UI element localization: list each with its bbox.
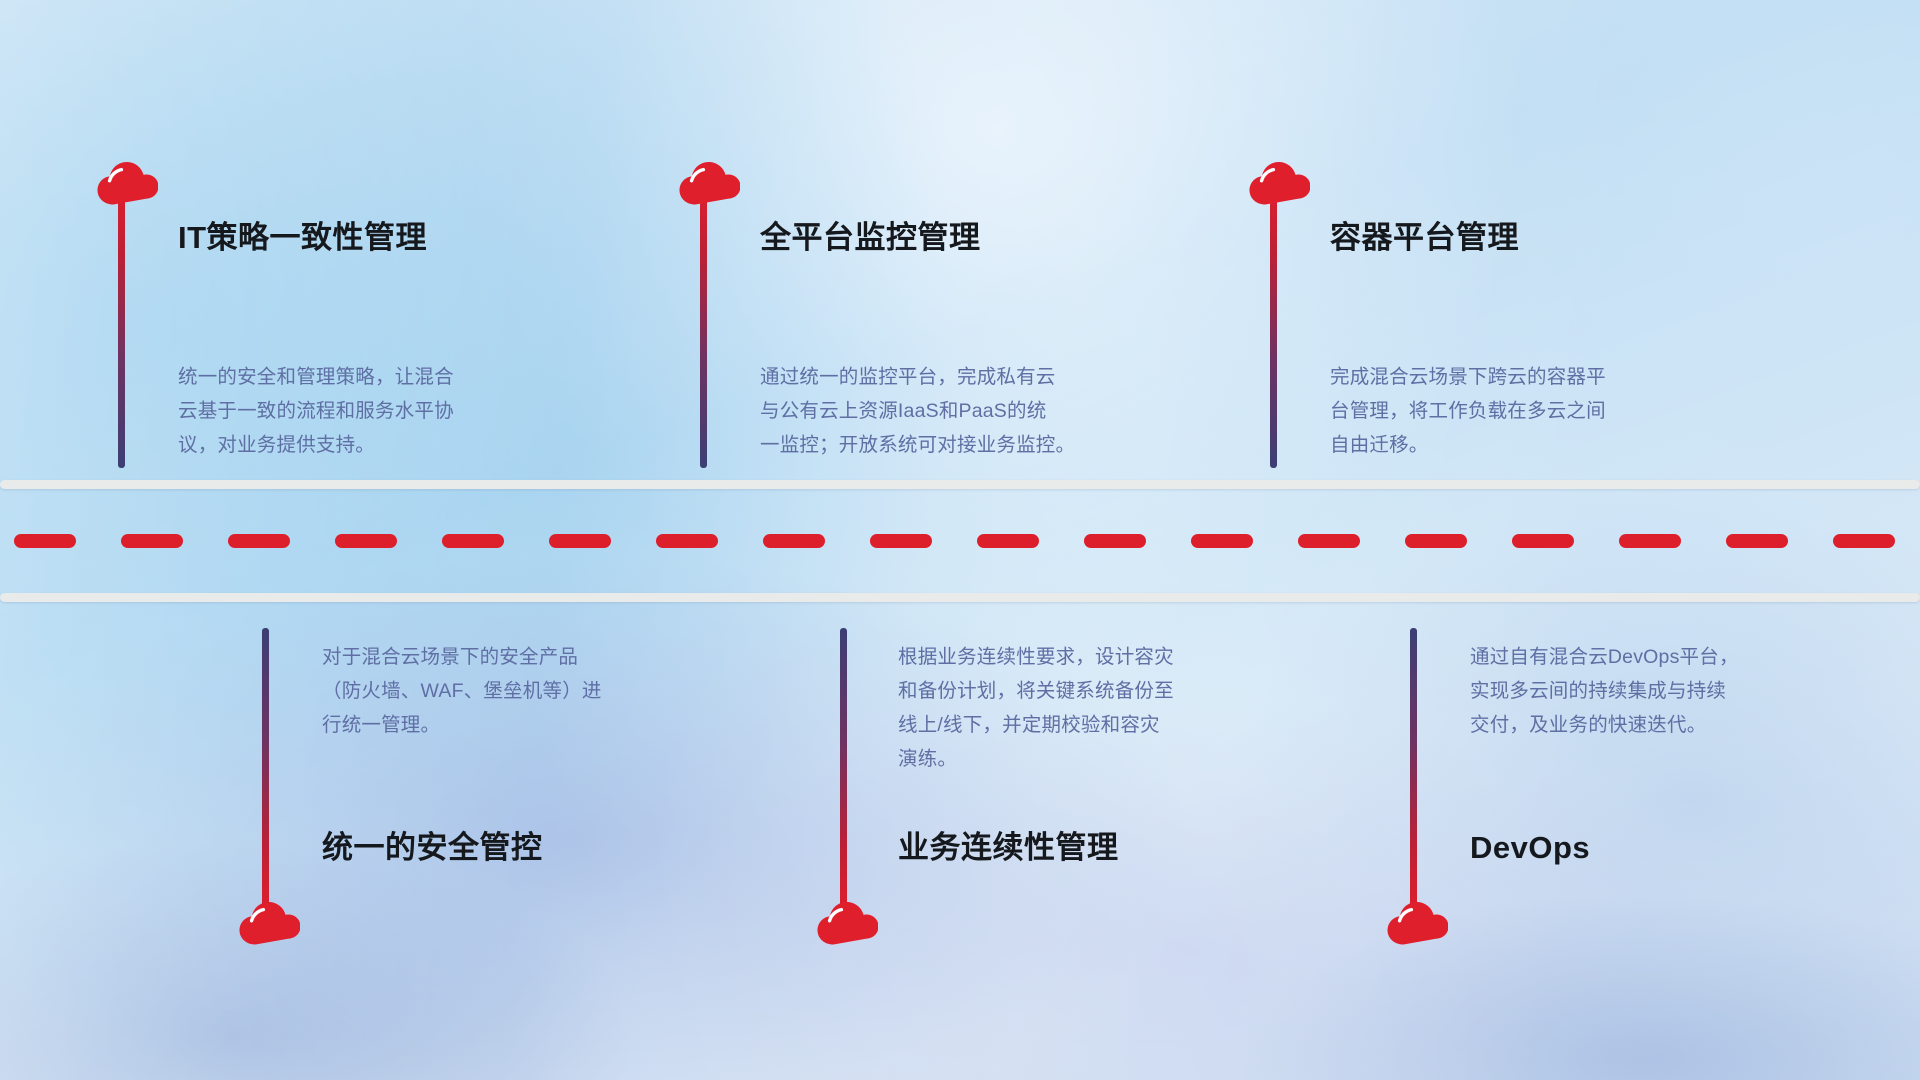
item-description: 完成混合云场景下跨云的容器平 台管理，将工作负载在多云之间 自由迁移。: [1330, 360, 1760, 462]
item-title: 业务连续性管理: [898, 832, 1119, 863]
connector-stem: [1270, 178, 1277, 468]
connector-stem: [1410, 628, 1417, 916]
cloud-icon: [1386, 900, 1448, 946]
cloud-icon: [96, 160, 158, 206]
connector-stem: [262, 628, 269, 916]
cloud-icon: [678, 160, 740, 206]
item-description: 统一的安全和管理策略，让混合 云基于一致的流程和服务水平协 议，对业务提供支持。: [178, 360, 608, 462]
connector-stem: [700, 178, 707, 468]
item-description: 根据业务连续性要求，设计容灾 和备份计划，将关键系统备份至 线上/线下，并定期校…: [898, 640, 1328, 776]
cloud-icon: [816, 900, 878, 946]
connector-stem: [118, 178, 125, 468]
item-title: DevOps: [1470, 832, 1590, 863]
connector-stem: [840, 628, 847, 916]
item-title: 统一的安全管控: [322, 832, 543, 863]
item-title: 容器平台管理: [1330, 222, 1519, 253]
item-description: 对于混合云场景下的安全产品 （防火墙、WAF、堡垒机等）进 行统一管理。: [322, 640, 752, 742]
item-title: 全平台监控管理: [760, 222, 981, 253]
item-description: 通过自有混合云DevOps平台， 实现多云间的持续集成与持续 交付，及业务的快速…: [1470, 640, 1900, 742]
cloud-icon: [238, 900, 300, 946]
item-description: 通过统一的监控平台，完成私有云 与公有云上资源IaaS和PaaS的统 一监控；开…: [760, 360, 1220, 462]
cloud-icon: [1248, 160, 1310, 206]
item-title: IT策略一致性管理: [178, 222, 427, 253]
content-stage: IT策略一致性管理统一的安全和管理策略，让混合 云基于一致的流程和服务水平协 议…: [0, 0, 1920, 1080]
